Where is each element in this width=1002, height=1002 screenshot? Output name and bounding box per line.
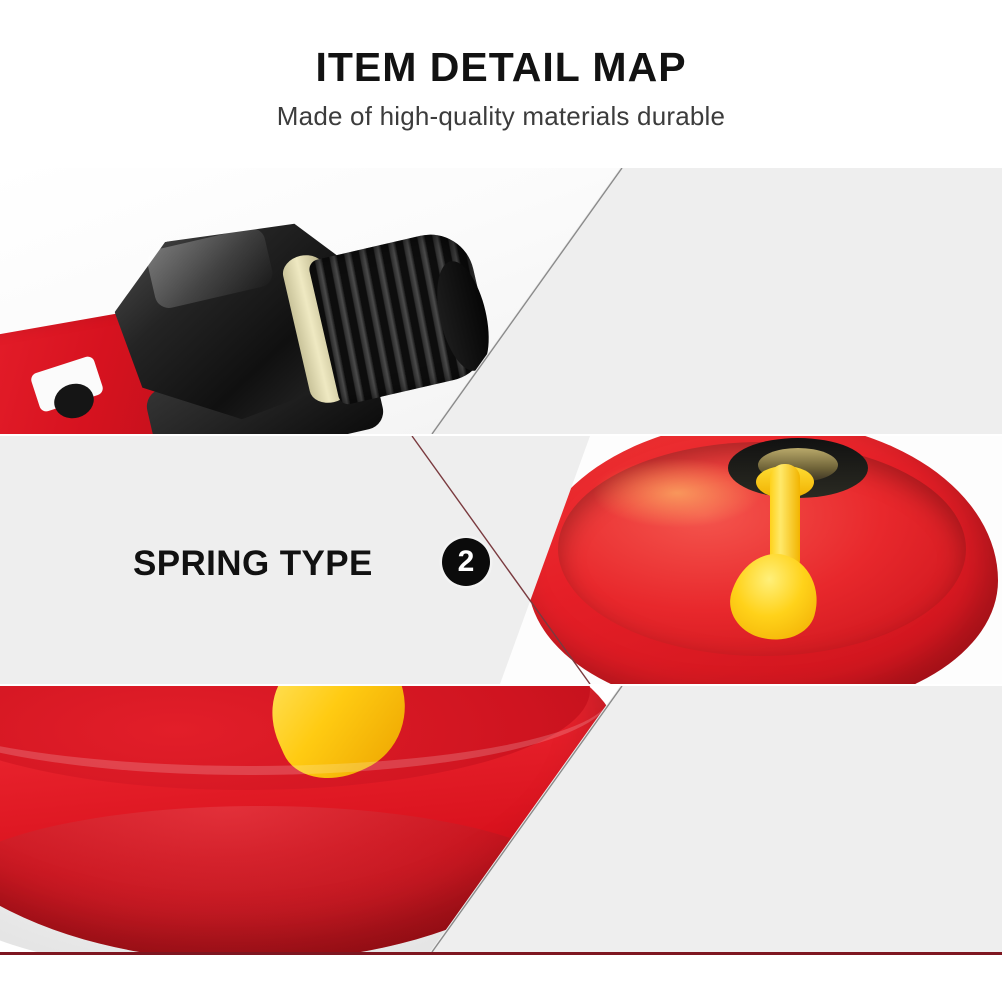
feature-panel-1: 1 EASY TO INSTALL — [0, 168, 1002, 434]
feature-panel-2: 2 SPRING TYPE — [0, 436, 1002, 684]
header: ITEM DETAIL MAP Made of high-quality mat… — [0, 0, 1002, 150]
panel-2-number-badge: 2 — [442, 538, 490, 586]
panel-2-caption: SPRING TYPE — [133, 544, 373, 584]
page-subtitle: Made of high-quality materials durable — [0, 100, 1002, 132]
feature-panel-3: 3 THICKENING — [0, 686, 1002, 955]
page-title: ITEM DETAIL MAP — [0, 44, 1002, 90]
item-detail-map-infographic: ITEM DETAIL MAP Made of high-quality mat… — [0, 0, 1002, 1002]
